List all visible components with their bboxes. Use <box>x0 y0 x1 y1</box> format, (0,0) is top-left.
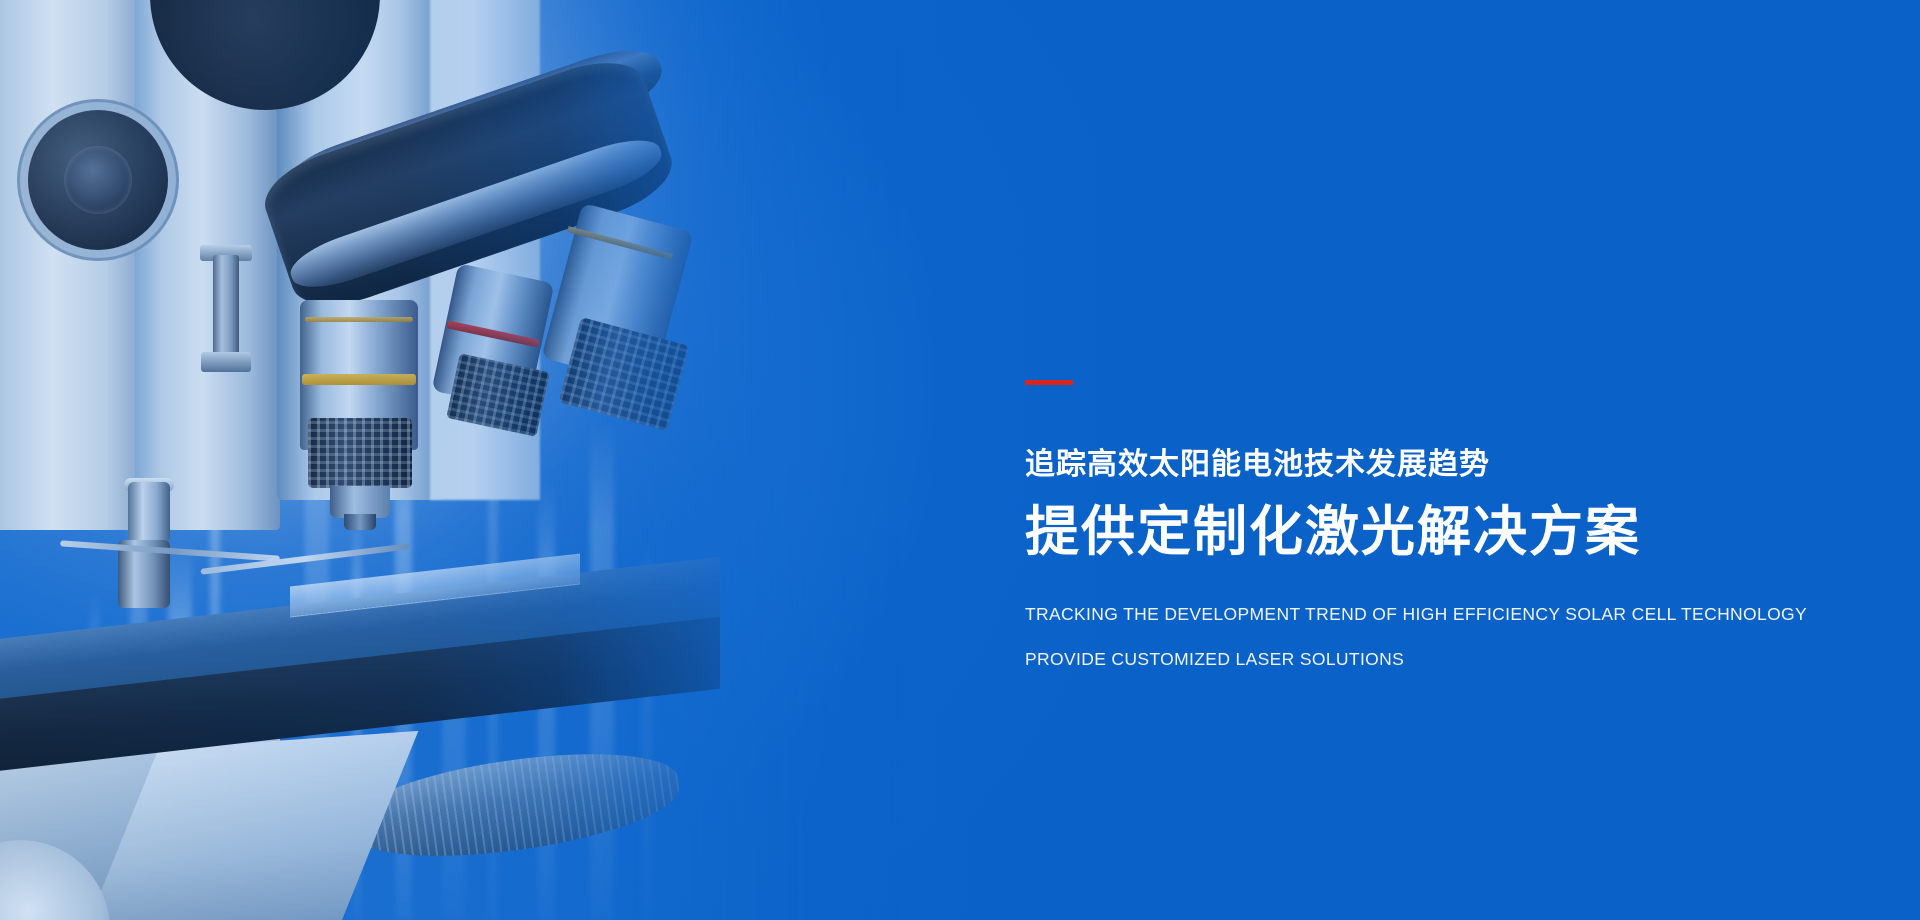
microscope-photo <box>0 0 900 920</box>
banner-subtitle-line2: PROVIDE CUSTOMIZED LASER SOLUTIONS <box>1025 648 1785 671</box>
banner-kicker: 追踪高效太阳能电池技术发展趋势 <box>1025 447 1785 483</box>
photo-blue-tint-overlay <box>0 0 900 920</box>
hero-banner: 追踪高效太阳能电池技术发展趋势 提供定制化激光解决方案 TRACKING THE… <box>0 0 1920 920</box>
banner-text-block: 追踪高效太阳能电池技术发展趋势 提供定制化激光解决方案 TRACKING THE… <box>1025 380 1785 671</box>
banner-subtitle-line1: TRACKING THE DEVELOPMENT TREND OF HIGH E… <box>1025 603 1785 626</box>
accent-rule <box>1025 380 1073 385</box>
banner-headline: 提供定制化激光解决方案 <box>1025 501 1785 563</box>
